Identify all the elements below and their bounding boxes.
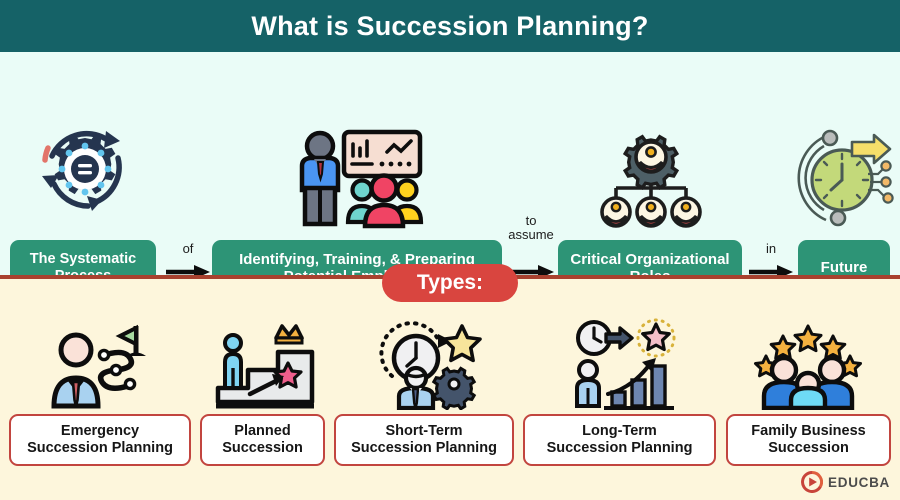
card-line2: Succession [222, 440, 303, 456]
card-line2: Succession [768, 440, 849, 456]
page-title: What is Succession Planning? [251, 11, 648, 42]
type-card-long-term-succession-planning[interactable]: Long-Term Succession Planning [523, 414, 716, 466]
type-card-family-business-succession[interactable]: Family Business Succession [726, 414, 891, 466]
types-badge: Types: [382, 264, 518, 302]
educba-mark-icon [801, 471, 823, 493]
card-text: Long-Term Succession Planning [547, 423, 693, 457]
card-line2: Succession Planning [547, 440, 693, 456]
card-text: Family Business Succession [751, 423, 865, 457]
family-group-stars-icon [752, 318, 864, 415]
types-badge-label: Types: [417, 271, 483, 295]
gear-process-cycle-icon [30, 114, 140, 229]
process-icon-row [0, 112, 900, 232]
org-chart-gear-icon [596, 128, 706, 233]
page-header: What is Succession Planning? [0, 0, 900, 52]
type-card-emergency-succession-planning[interactable]: Emergency Succession Planning [9, 414, 191, 466]
growth-chart-clock-star-icon [572, 318, 678, 415]
type-card-short-term-succession-planning[interactable]: Short-Term Succession Planning [334, 414, 514, 466]
card-line2: Succession Planning [351, 440, 497, 456]
connector-to-assume-label: to assume [496, 214, 566, 241]
types-icon-row [0, 312, 900, 412]
process-section: The Systematic Process of Identifying, T… [0, 52, 900, 275]
educba-logo-text: EDUCBA [828, 475, 890, 490]
card-line1: Long-Term [582, 423, 657, 439]
connector-in-label: in [736, 242, 806, 256]
card-line1: Emergency [61, 423, 139, 439]
card-line1: Family Business [751, 423, 865, 439]
card-line1: Planned [234, 423, 290, 439]
card-line1: Short-Term [385, 423, 462, 439]
card-text: Short-Term Succession Planning [351, 423, 497, 457]
stairs-crown-icon [214, 318, 316, 415]
connector-line2: assume [508, 227, 554, 242]
infographic-page: What is Succession Planning? [0, 0, 900, 500]
educba-logo[interactable]: EDUCBA [801, 470, 890, 494]
person-path-flag-icon [48, 322, 158, 417]
clock-forward-arrow-icon [790, 128, 894, 233]
employee-training-chart-icon [288, 128, 434, 237]
type-card-planned-succession[interactable]: Planned Succession [200, 414, 325, 466]
card-text: Planned Succession [222, 423, 303, 457]
type-cards-row: Emergency Succession Planning Planned Su… [0, 414, 900, 472]
clock-star-person-gear-icon [378, 318, 482, 415]
card-line2: Succession Planning [27, 440, 173, 456]
card-text: Emergency Succession Planning [27, 423, 173, 457]
